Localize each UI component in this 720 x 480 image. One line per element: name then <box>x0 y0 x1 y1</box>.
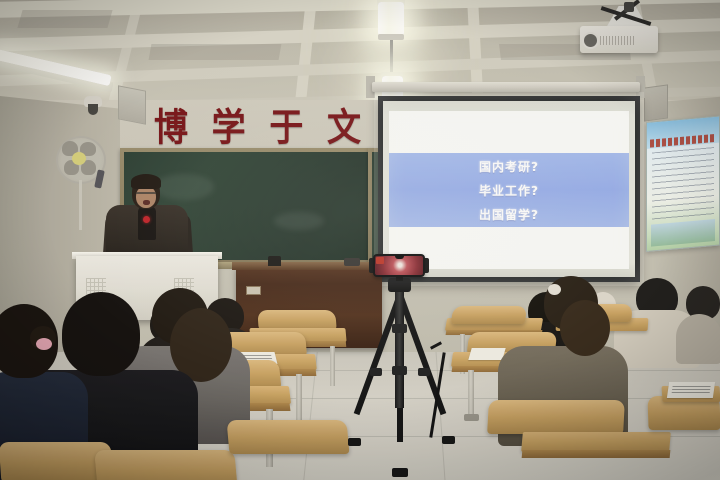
calligraphy-char-4: 文 <box>327 109 361 147</box>
presenter-shirt <box>138 206 156 240</box>
slide-line-1: 国内考研? <box>479 158 539 175</box>
projector-bolt <box>624 2 634 12</box>
wall-speaker <box>118 85 146 124</box>
slide-blue-band: 国内考研? 毕业工作? 出国留学? <box>389 153 629 227</box>
desk-foot <box>464 414 479 421</box>
student-desk-edge <box>522 450 671 458</box>
chalk-smudge <box>154 174 214 200</box>
ceiling-panel <box>17 10 112 28</box>
chair-back <box>451 306 528 324</box>
student-hair-ponytail <box>560 300 610 356</box>
student-head <box>62 292 140 376</box>
chair-back <box>257 310 336 330</box>
slide-line-3: 出国留学? <box>479 206 539 223</box>
fan-hub <box>72 152 86 165</box>
desk-leg <box>296 374 302 424</box>
tripod-foot <box>348 438 361 446</box>
poster-body-text <box>652 147 714 220</box>
student-body <box>676 314 720 364</box>
projection-screen-case <box>372 82 640 92</box>
phone-recording-indicator <box>376 257 384 264</box>
slide-line-2: 毕业工作? <box>479 182 539 199</box>
chair-back <box>227 420 350 454</box>
wall-speaker <box>644 84 668 121</box>
wall-poster <box>646 116 720 252</box>
phone-notch <box>395 255 404 259</box>
tripod-foot <box>392 468 408 477</box>
glasses-icon <box>136 192 156 199</box>
fan-pole <box>79 180 82 230</box>
presenter-mouth <box>143 200 150 205</box>
pendant-lamp-upper <box>378 2 404 36</box>
camera-lens-icon <box>88 104 98 115</box>
ceiling-panel <box>149 44 282 60</box>
desk-object <box>268 256 281 266</box>
presenter-hair <box>131 174 161 189</box>
calligraphy-char-2: 学 <box>212 109 246 147</box>
calligraphy-char-1: 博 <box>154 109 188 147</box>
projector-vent <box>600 36 634 45</box>
pendant-lamp-rod <box>390 40 393 74</box>
tripod-collar <box>392 324 407 333</box>
wall-calligraphy: 博 学 于 文 <box>150 106 365 150</box>
desk-leg <box>468 370 474 418</box>
desk-label-plate <box>246 286 261 295</box>
desk-leg <box>330 346 335 386</box>
tripod-foot <box>442 436 455 444</box>
tripod-center-column <box>395 290 404 408</box>
chalk-smudge <box>274 212 324 230</box>
tripod-collar <box>418 368 430 376</box>
presenter-lapel-pin <box>143 216 150 223</box>
classroom-photo: 博 学 于 文 国内考研? 毕业工作? 出国留学? <box>0 0 720 480</box>
projector-lens-icon <box>582 32 599 49</box>
tripod-collar <box>392 366 407 375</box>
student-desk <box>521 432 671 452</box>
projected-slide: 国内考研? 毕业工作? 出国留学? <box>383 101 635 277</box>
chair-back <box>487 400 625 434</box>
tripod-collar <box>370 368 382 376</box>
calligraphy-char-3: 于 <box>269 109 303 147</box>
hair-scrunchie <box>36 338 52 350</box>
paper-text-lines <box>671 386 710 395</box>
poster-building-graphic <box>651 219 715 247</box>
hair-clip <box>548 284 561 295</box>
slide-top-band <box>389 111 629 153</box>
desk-object <box>344 258 360 266</box>
teacher-desk-top <box>232 262 386 270</box>
chair-back <box>94 450 237 480</box>
paper-handout <box>468 348 505 360</box>
